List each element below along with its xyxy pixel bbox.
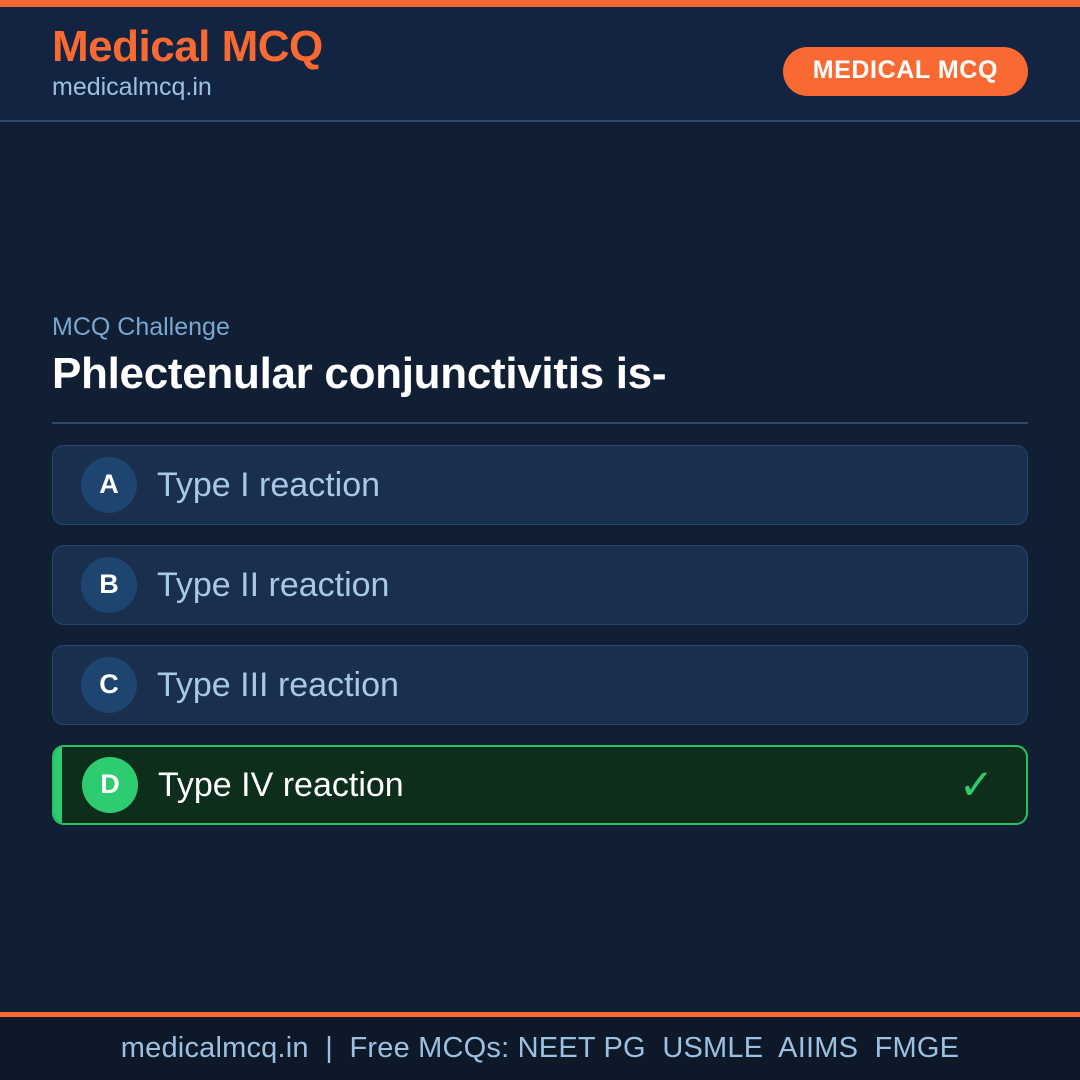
header-badge: MEDICAL MCQ <box>783 47 1028 96</box>
option-d[interactable]: D Type IV reaction ✓ <box>52 745 1028 825</box>
option-c-letter: C <box>81 657 137 713</box>
option-c[interactable]: C Type III reaction <box>52 645 1028 725</box>
option-b[interactable]: B Type II reaction <box>52 545 1028 625</box>
option-b-text: Type II reaction <box>157 568 389 602</box>
question-title: Phlectenular conjunctivitis is- <box>52 348 1028 400</box>
options-list: A Type I reaction B Type II reaction C T… <box>52 445 1028 825</box>
option-a[interactable]: A Type I reaction <box>52 445 1028 525</box>
footer-text: medicalmcq.in | Free MCQs: NEET PG USMLE… <box>121 1032 959 1065</box>
title-divider <box>52 422 1028 424</box>
brand-block: Medical MCQ medicalmcq.in <box>52 23 323 101</box>
option-a-letter: A <box>81 457 137 513</box>
option-c-text: Type III reaction <box>157 668 399 702</box>
brand-title: Medical MCQ <box>52 23 323 71</box>
question-panel: MCQ Challenge Phlectenular conjunctiviti… <box>52 312 1028 825</box>
option-b-letter: B <box>81 557 137 613</box>
check-icon: ✓ <box>959 764 994 806</box>
option-d-letter: D <box>82 757 138 813</box>
correct-accent-bar <box>54 747 62 825</box>
top-accent-strip <box>0 0 1080 7</box>
brand-subtitle: medicalmcq.in <box>52 73 323 102</box>
option-d-text: Type IV reaction <box>158 768 404 802</box>
site-footer: medicalmcq.in | Free MCQs: NEET PG USMLE… <box>0 1017 1080 1080</box>
eyebrow-label: MCQ Challenge <box>52 312 1028 342</box>
option-a-text: Type I reaction <box>157 468 380 502</box>
site-header: Medical MCQ medicalmcq.in MEDICAL MCQ <box>0 7 1080 122</box>
